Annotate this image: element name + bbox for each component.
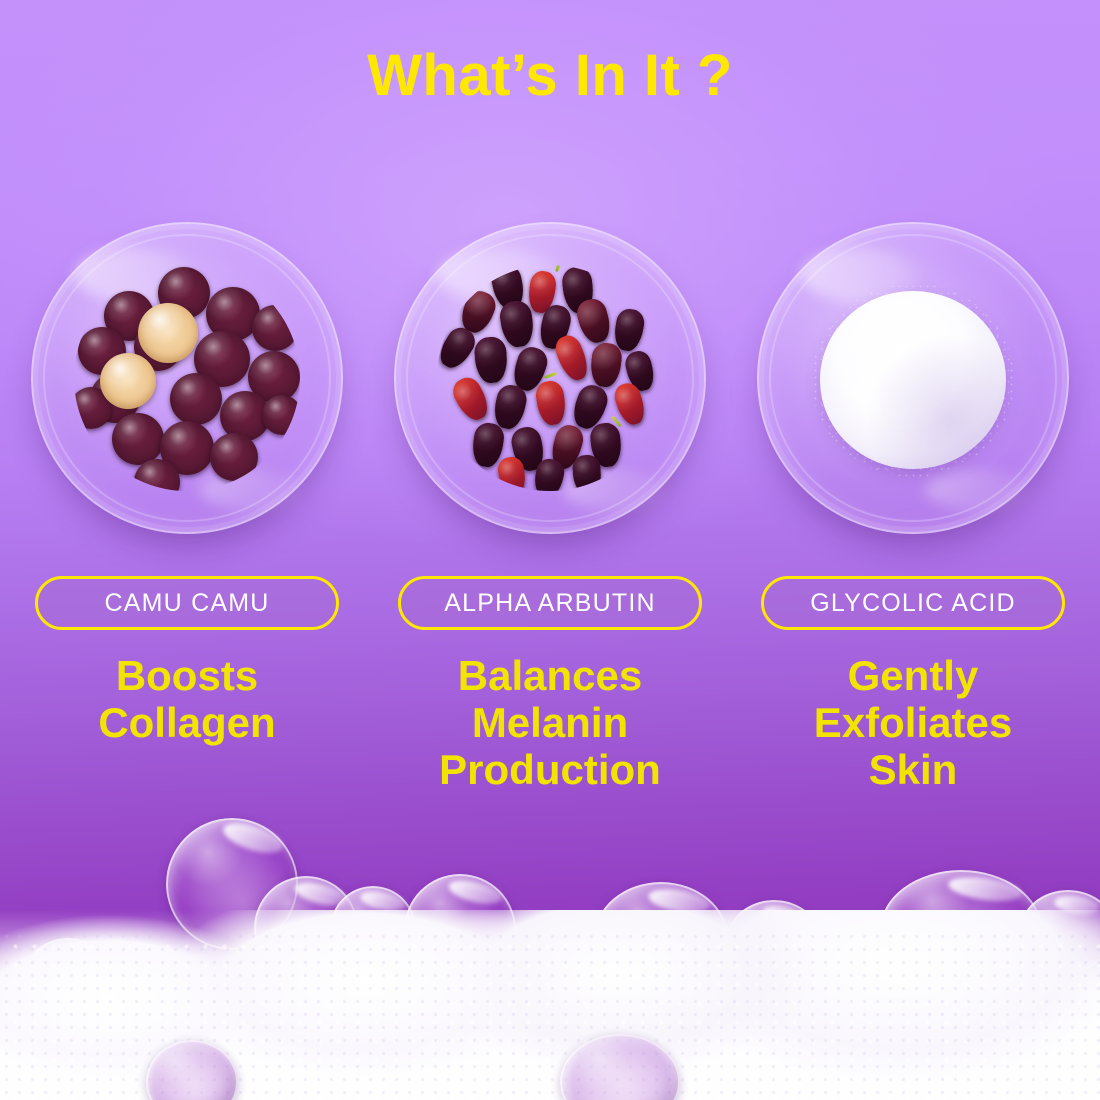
benefit-text-alpha-arbutin: Balances Melanin Production — [439, 652, 661, 793]
white-powder — [800, 265, 1026, 491]
ingredient-column-glycolic-acid: GLYCOLIC ACID Gently Exfoliates Skin — [748, 222, 1078, 793]
benefit-text-glycolic-acid: Gently Exfoliates Skin — [814, 652, 1012, 793]
benefit-text-camu-camu: Boosts Collagen — [98, 652, 275, 746]
page-title: What’s In It ? — [0, 46, 1100, 107]
foam-footer — [0, 800, 1100, 1100]
poster-canvas: What’s In It ? — [0, 0, 1100, 1100]
glycolic-acid-bowl — [757, 222, 1069, 534]
ingredient-column-camu-camu: CAMU CAMU Boosts Collagen — [22, 222, 352, 793]
camu-camu-berries — [74, 265, 300, 491]
mulberries — [437, 265, 663, 491]
alpha-arbutin-bowl — [394, 222, 706, 534]
camu-camu-bowl — [31, 222, 343, 534]
ingredient-column-alpha-arbutin: ALPHA ARBUTIN Balances Melanin Productio… — [385, 222, 715, 793]
pill-label-camu-camu[interactable]: CAMU CAMU — [35, 576, 339, 630]
pill-label-glycolic-acid[interactable]: GLYCOLIC ACID — [761, 576, 1065, 630]
pill-label-alpha-arbutin[interactable]: ALPHA ARBUTIN — [398, 576, 702, 630]
powder-grain-texture — [812, 283, 1014, 477]
powder-mound — [820, 291, 1006, 469]
ingredient-columns: CAMU CAMU Boosts Collagen — [0, 222, 1100, 793]
